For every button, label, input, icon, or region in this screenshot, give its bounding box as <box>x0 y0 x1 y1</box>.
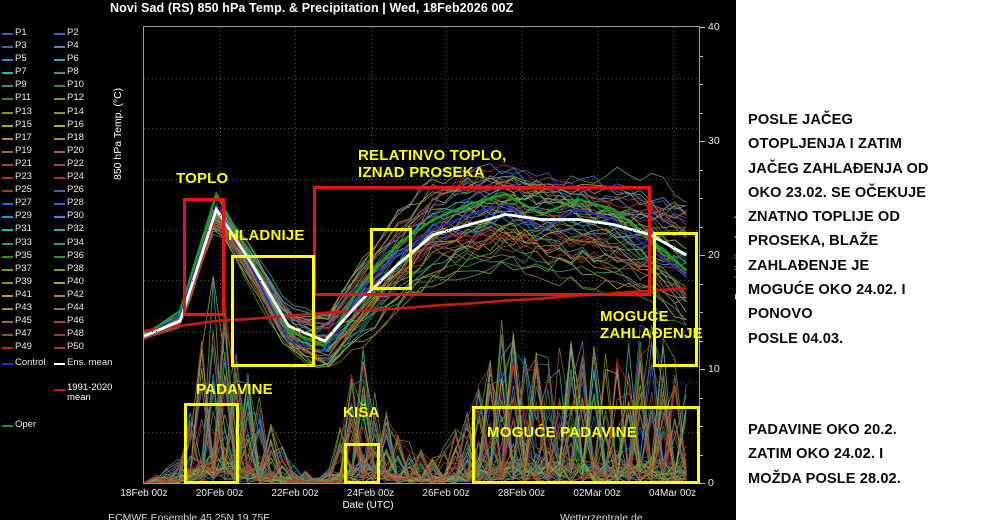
hladnije-box <box>231 255 315 367</box>
legend-color-swatch <box>54 269 65 271</box>
legend-entry-label: Oper <box>15 419 36 431</box>
legend-item-p43: P43 <box>2 302 54 315</box>
tick-mark-right-minor <box>700 398 703 399</box>
legend-entry-label: P43 <box>15 302 32 314</box>
legend-color-swatch <box>2 164 13 166</box>
legend-item-p15: P15 <box>2 119 54 132</box>
legend-item-p18: P18 <box>54 132 106 145</box>
legend-item-p5: P5 <box>2 53 54 66</box>
legend-color-swatch <box>2 229 13 231</box>
legend-color-swatch <box>54 363 65 365</box>
x-axis-tick: 28Feb 00z <box>498 488 545 499</box>
legend-color-swatch <box>2 85 13 87</box>
legend-item-p11: P11 <box>2 92 54 105</box>
commentary-paragraph-1: POSLE JAČEG OTOPLJENJA I ZATIM JAČEG ZAH… <box>748 108 998 351</box>
tick-mark-right-minor <box>700 84 703 85</box>
legend-item-p6: P6 <box>54 53 106 66</box>
legend-entry-label: P21 <box>15 158 32 170</box>
x-axis-tick: 26Feb 00z <box>422 488 469 499</box>
legend-entry-label: P35 <box>15 250 32 262</box>
legend-column-odd: P1P3P5P7P9P11P13P15P17P19P21P23P25P27P29… <box>2 27 54 354</box>
chart-title: Novi Sad (RS) 850 hPa Temp. & Precipitat… <box>110 1 670 17</box>
hladnije-label: HLADNIJE <box>228 227 305 244</box>
legend-entry-label: P42 <box>67 289 84 301</box>
moguce-padavine-box <box>472 406 700 484</box>
y-axis-tick-right: 30 <box>708 135 736 147</box>
legend-color-swatch <box>54 112 65 114</box>
legend-entry-label: P3 <box>15 40 27 52</box>
legend-color-swatch <box>54 282 65 284</box>
gridline-horizontal <box>144 78 699 79</box>
legend-color-swatch <box>2 216 13 218</box>
legend-entry-label: P24 <box>67 171 84 183</box>
legend-entry-label: P10 <box>67 79 84 91</box>
legend-item-p40: P40 <box>54 276 106 289</box>
legend-item-p2: P2 <box>54 27 106 40</box>
legend-entry-label: P33 <box>15 237 32 249</box>
legend-item-climatology: 1991-2020 mean <box>2 383 108 413</box>
legend-color-swatch <box>2 425 13 427</box>
legend-item-p8: P8 <box>54 66 106 79</box>
commentary-paragraph-2: PADAVINE OKO 20.2. ZATIM OKO 24.02. I MO… <box>748 418 998 491</box>
legend-item-p37: P37 <box>2 263 54 276</box>
relativno-toplo-box <box>313 186 651 296</box>
legend-item-p26: P26 <box>54 184 106 197</box>
legend-item-p25: P25 <box>2 184 54 197</box>
legend-entry-label: P34 <box>67 237 84 249</box>
gridline-horizontal <box>144 128 699 129</box>
mali-zuti-box <box>370 228 412 290</box>
legend-entry-label: Control <box>15 357 46 369</box>
figure-footer-source: ECMWF Ensemble 45.25N 19.75E <box>108 512 270 520</box>
tick-mark-right-minor <box>700 27 703 28</box>
legend-item-p35: P35 <box>2 250 54 263</box>
legend-entry-label: P28 <box>67 197 84 209</box>
legend-entry-label: P15 <box>15 119 32 131</box>
legend-color-swatch <box>2 282 13 284</box>
legend-item-p42: P42 <box>54 289 106 302</box>
moguce-zahladenje-box <box>653 232 698 367</box>
legend-color-swatch <box>54 125 65 127</box>
moguce-padavine-label: MOGUĆE PADAVINE <box>487 424 637 441</box>
tick-mark-right-minor <box>700 255 703 256</box>
legend-entry-label: P23 <box>15 171 32 183</box>
x-axis-tick: 20Feb 00z <box>196 488 243 499</box>
y-axis-tick-right: 0 <box>708 477 736 489</box>
legend-color-swatch <box>2 243 13 245</box>
legend-color-swatch <box>54 334 65 336</box>
legend-color-swatch <box>2 138 13 140</box>
legend-color-swatch <box>2 72 13 74</box>
legend-entry-label: P46 <box>67 315 84 327</box>
legend-entry-label: P4 <box>67 40 79 52</box>
legend-item-p1: P1 <box>2 27 54 40</box>
legend-color-swatch <box>2 295 13 297</box>
legend-item-p44: P44 <box>54 302 106 315</box>
legend-entry-label: P26 <box>67 184 84 196</box>
tick-mark-right-minor <box>700 198 703 199</box>
legend-entry-label: P49 <box>15 341 32 353</box>
tick-mark-right-minor <box>700 141 703 142</box>
legend-entry-label: Ens. mean <box>67 357 112 369</box>
x-axis-tick: 02Mar 00z <box>573 488 620 499</box>
legend-item-p39: P39 <box>2 276 54 289</box>
legend-entry-label: P13 <box>15 106 32 118</box>
legend-color-swatch <box>2 112 13 114</box>
relativno-toplo-label: RELATINVO TOPLO, IZNAD PROSEKA <box>358 147 506 181</box>
screenshot-root: Novi Sad (RS) 850 hPa Temp. & Precipitat… <box>0 0 1000 520</box>
legend-entry-label: P50 <box>67 341 84 353</box>
legend-entry-label: P16 <box>67 119 84 131</box>
kisa-label: KIŠA <box>343 404 380 421</box>
legend-entry-label: P7 <box>15 66 27 78</box>
tick-mark-right-minor <box>700 113 703 114</box>
legend-item-p41: P41 <box>2 289 54 302</box>
legend-entry-label: P36 <box>67 250 84 262</box>
legend-color-swatch <box>2 33 13 35</box>
tick-mark-right-minor <box>700 170 703 171</box>
legend-color-swatch <box>54 389 65 391</box>
legend-item-p4: P4 <box>54 40 106 53</box>
legend-item-p30: P30 <box>54 210 106 223</box>
legend-entry-label: P11 <box>15 92 31 104</box>
legend-entry-label: P9 <box>15 79 27 91</box>
legend-item-p46: P46 <box>54 315 106 328</box>
commentary-panel: POSLE JAČEG OTOPLJENJA I ZATIM JAČEG ZAH… <box>736 0 1000 520</box>
legend-item-p36: P36 <box>54 250 106 263</box>
legend-color-swatch <box>54 243 65 245</box>
legend-extra-entries: ControlEns. mean1991-2020 meanOper <box>2 357 108 433</box>
legend-entry-label: P39 <box>15 276 32 288</box>
kisa-box <box>344 443 380 484</box>
legend-item-p14: P14 <box>54 106 106 119</box>
x-axis-tick: 04Mar 00z <box>649 488 696 499</box>
legend-color-swatch <box>2 125 13 127</box>
legend-color-swatch <box>2 334 13 336</box>
legend-color-swatch <box>54 151 65 153</box>
x-axis-tick: 22Feb 00z <box>271 488 318 499</box>
legend-item-p28: P28 <box>54 197 106 210</box>
legend-color-swatch <box>54 98 65 100</box>
x-axis-tick: 18Feb 00z <box>120 488 167 499</box>
legend-entry-label: P32 <box>67 223 84 235</box>
legend-item-control: ControlEns. mean <box>2 357 108 371</box>
legend-item-oper: Oper <box>2 419 108 433</box>
legend-color-swatch <box>54 177 65 179</box>
legend-item-p20: P20 <box>54 145 106 158</box>
legend-entry-label: P31 <box>15 223 32 235</box>
legend-entry-label: P19 <box>15 145 32 157</box>
legend-color-swatch <box>54 308 65 310</box>
x-axis-label: Date (UTC) <box>0 500 736 511</box>
legend-color-swatch <box>54 295 65 297</box>
legend-item-p23: P23 <box>2 171 54 184</box>
legend-entry-label: P44 <box>67 302 84 314</box>
toplo-box <box>183 198 225 316</box>
legend-entry-label: P5 <box>15 53 27 65</box>
legend-color-swatch <box>54 85 65 87</box>
legend-color-swatch <box>54 347 65 349</box>
legend-entry-label: P25 <box>15 184 32 196</box>
figure-footer-credit: Wetterzentrale.de <box>560 512 643 520</box>
legend-item-p32: P32 <box>54 223 106 236</box>
tick-mark-right-minor <box>700 284 703 285</box>
legend-column-even: P2P4P6P8P10P12P14P16P18P20P22P24P26P28P3… <box>54 27 106 354</box>
legend-item-p27: P27 <box>2 197 54 210</box>
y-axis-tick-right: 10 <box>708 363 736 375</box>
y-axis-tick-right: 20 <box>708 249 736 261</box>
tick-mark-right-minor <box>700 227 703 228</box>
legend-entry-label: P40 <box>67 276 84 288</box>
forecast-chart-figure: Novi Sad (RS) 850 hPa Temp. & Precipitat… <box>0 0 736 520</box>
legend-item-p50: P50 <box>54 341 106 354</box>
legend-entry-label: P22 <box>67 158 84 170</box>
legend-item-p33: P33 <box>2 237 54 250</box>
legend-item-p13: P13 <box>2 106 54 119</box>
legend-color-swatch <box>54 72 65 74</box>
legend-color-swatch <box>2 347 13 349</box>
legend-item-p19: P19 <box>2 145 54 158</box>
legend-color-swatch <box>54 229 65 231</box>
legend-color-swatch <box>54 203 65 205</box>
legend-item-p47: P47 <box>2 328 54 341</box>
legend-color-swatch <box>54 321 65 323</box>
tick-mark-right-minor <box>700 426 703 427</box>
legend-color-swatch <box>2 363 13 365</box>
legend-item-p34: P34 <box>54 237 106 250</box>
legend-entry-label: P38 <box>67 263 84 275</box>
legend-color-swatch <box>54 256 65 258</box>
legend-entry-label: P18 <box>67 132 84 144</box>
legend-color-swatch <box>2 256 13 258</box>
legend-entry-label: 1991-2020 mean <box>67 383 123 404</box>
legend-color-swatch <box>2 190 13 192</box>
legend-color-swatch <box>2 46 13 48</box>
tick-mark-right-minor <box>700 455 703 456</box>
legend-color-swatch <box>2 269 13 271</box>
legend-item-p31: P31 <box>2 223 54 236</box>
legend-color-swatch <box>54 190 65 192</box>
padavine-box <box>184 403 239 484</box>
legend-item-p3: P3 <box>2 40 54 53</box>
legend-entry-label: P48 <box>67 328 84 340</box>
moguce-zahladenje-label: MOGUĆE ZAHLAĐENJE <box>600 308 703 342</box>
tick-mark-right-minor <box>700 56 703 57</box>
legend-color-swatch <box>2 308 13 310</box>
legend-item-p49: P49 <box>2 341 54 354</box>
tick-mark-right-minor <box>700 369 703 370</box>
legend-item-p48: P48 <box>54 328 106 341</box>
legend-entry-label: P47 <box>15 328 32 340</box>
legend-entry-label: P29 <box>15 210 32 222</box>
legend-color-swatch <box>2 203 13 205</box>
legend-entry-label: P2 <box>67 27 79 39</box>
legend-item-p10: P10 <box>54 79 106 92</box>
legend-item-p24: P24 <box>54 171 106 184</box>
legend-color-swatch <box>2 151 13 153</box>
y-axis-tick-right: 40 <box>708 21 736 33</box>
legend-entry-label: P27 <box>15 197 32 209</box>
legend-item-p12: P12 <box>54 92 106 105</box>
legend-entry-label: P17 <box>15 132 32 144</box>
y-axis-label-left: 850 hPa Temp. (°C) <box>112 40 124 180</box>
legend-entry-label: P30 <box>67 210 84 222</box>
legend-color-swatch <box>54 59 65 61</box>
legend-entry-label: P45 <box>15 315 32 327</box>
legend-entry-label: P6 <box>67 53 79 65</box>
legend-item-p45: P45 <box>2 315 54 328</box>
legend-color-swatch <box>54 46 65 48</box>
legend-entry-label: P14 <box>67 106 84 118</box>
legend-color-swatch <box>2 177 13 179</box>
legend-item-p22: P22 <box>54 158 106 171</box>
legend-item-p7: P7 <box>2 66 54 79</box>
legend-color-swatch <box>2 321 13 323</box>
legend-entry-label: P8 <box>67 66 79 78</box>
toplo-label: TOPLO <box>176 170 228 187</box>
x-axis-tick: 24Feb 00z <box>347 488 394 499</box>
legend-entry-label: P41 <box>15 289 32 301</box>
legend-entry-label: P1 <box>15 27 27 39</box>
padavine-label: PADAVINE <box>196 381 273 398</box>
legend-color-swatch <box>54 138 65 140</box>
tick-mark-right-minor <box>700 483 703 484</box>
legend-item-p29: P29 <box>2 210 54 223</box>
legend-item-p21: P21 <box>2 158 54 171</box>
legend-item-p16: P16 <box>54 119 106 132</box>
legend-entry-label: P37 <box>15 263 32 275</box>
legend-color-swatch <box>54 216 65 218</box>
legend-color-swatch <box>2 59 13 61</box>
legend-color-swatch <box>2 98 13 100</box>
legend-item-p38: P38 <box>54 263 106 276</box>
legend-color-swatch <box>54 164 65 166</box>
ensemble-legend: P1P3P5P7P9P11P13P15P17P19P21P23P25P27P29… <box>2 27 108 417</box>
legend-item-p17: P17 <box>2 132 54 145</box>
legend-color-swatch <box>54 33 65 35</box>
legend-entry-label: P20 <box>67 145 84 157</box>
legend-item-p9: P9 <box>2 79 54 92</box>
legend-entry-label: P12 <box>67 92 84 104</box>
